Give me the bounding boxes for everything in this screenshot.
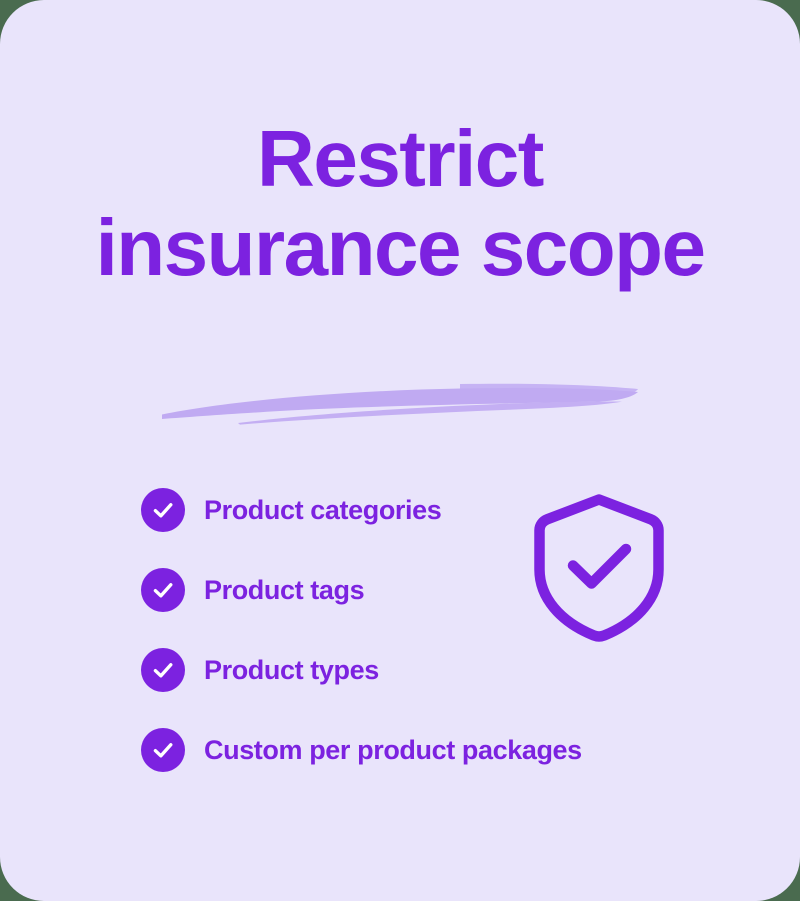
shield-check-icon xyxy=(532,492,666,644)
check-circle-icon xyxy=(141,728,185,772)
check-circle-icon xyxy=(141,648,185,692)
list-item-label: Product categories xyxy=(204,497,441,524)
list-item-label: Product types xyxy=(204,657,379,684)
list-item-label: Product tags xyxy=(204,577,364,604)
page-title: Restrict insurance scope xyxy=(0,114,800,293)
feature-card: Restrict insurance scope Product categor… xyxy=(0,0,800,901)
list-item: Custom per product packages xyxy=(141,710,701,790)
check-circle-icon xyxy=(141,568,185,612)
check-circle-icon xyxy=(141,488,185,532)
brush-stroke-underline-icon xyxy=(160,378,640,426)
list-item-label: Custom per product packages xyxy=(204,737,582,764)
